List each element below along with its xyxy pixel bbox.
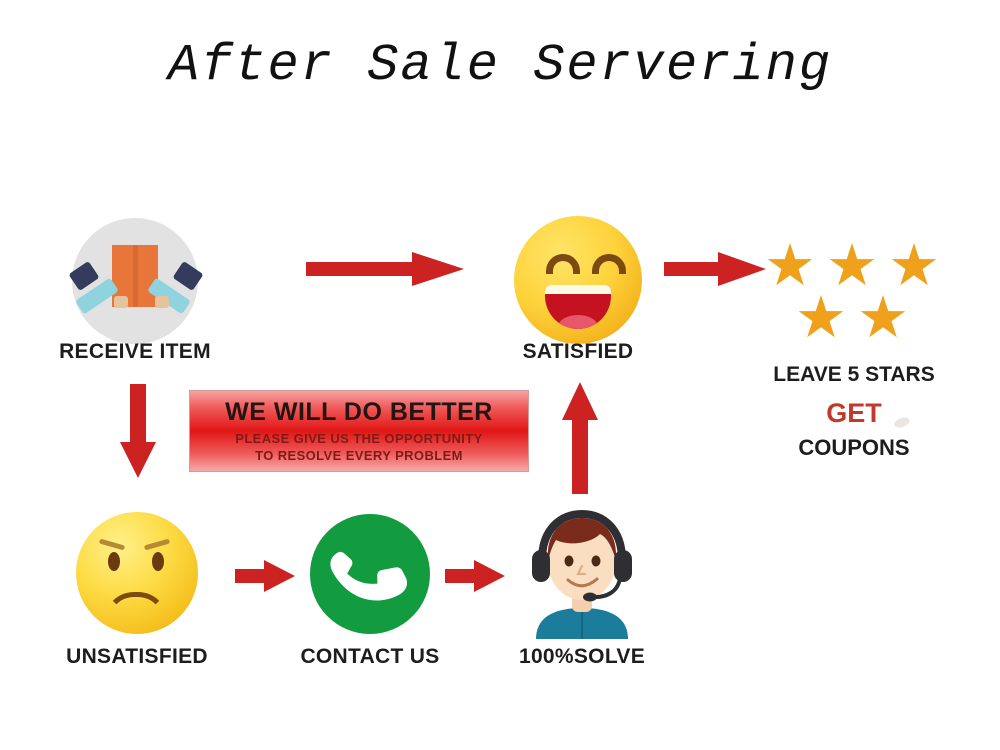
after-sale-service-infographic: After Sale Servering RECEIVE ITEM SATISF… bbox=[0, 0, 1000, 750]
parcel-seam-shape bbox=[133, 245, 138, 307]
arrow-receive-to-satisfied bbox=[300, 248, 470, 290]
finger-right-shape bbox=[155, 296, 169, 308]
we-will-do-better-banner: WE WILL DO BETTER PLEASE GIVE US THE OPP… bbox=[189, 390, 529, 472]
leave-5-stars-label: LEAVE 5 STARS bbox=[724, 363, 984, 387]
receive-item-label: RECEIVE ITEM bbox=[15, 340, 255, 364]
arrow-solve-to-satisfied bbox=[558, 378, 602, 498]
satisfied-label: SATISFIED bbox=[458, 340, 698, 364]
sad-eye-right-shape bbox=[152, 552, 164, 571]
page-title: After Sale Servering bbox=[0, 36, 1000, 95]
finger-left-shape bbox=[114, 296, 128, 308]
get-label: GET bbox=[724, 398, 984, 429]
banner-headline: WE WILL DO BETTER bbox=[190, 398, 528, 427]
star-icon-4: ★ bbox=[795, 292, 847, 344]
contact-us-label: CONTACT US bbox=[250, 645, 490, 669]
support-agent-headset-icon bbox=[512, 504, 652, 639]
arrow-unsatisfied-to-contact bbox=[232, 557, 298, 595]
banner-subline-1: PLEASE GIVE US THE OPPORTUNITY bbox=[190, 430, 528, 447]
unsatisfied-label: UNSATISFIED bbox=[17, 645, 257, 669]
banner-subline-2: TO RESOLVE EVERY PROBLEM bbox=[190, 447, 528, 464]
coupons-label: COUPONS bbox=[724, 435, 984, 461]
arrow-satisfied-to-stars bbox=[660, 248, 770, 290]
telephone-handset-glyph bbox=[310, 514, 430, 634]
solve-label: 100%SOLVE bbox=[462, 645, 702, 669]
sad-eye-left-shape bbox=[108, 552, 120, 571]
arrow-contact-to-solve bbox=[442, 557, 508, 595]
star-icon-5: ★ bbox=[857, 292, 909, 344]
arrow-receive-to-unsatisfied bbox=[116, 380, 160, 482]
